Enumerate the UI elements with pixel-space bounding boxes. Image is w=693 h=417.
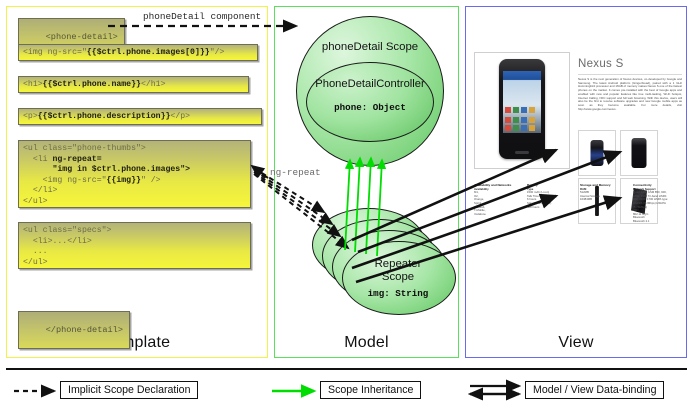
repeater-label-line1: Repeater xyxy=(375,258,422,270)
screen-icon-row-1 xyxy=(505,107,539,113)
code-phone-detail-close: </phone-detail> xyxy=(18,311,130,349)
code-text: <ul class="specs"> xyxy=(23,226,111,235)
spec-column: Availability and Networks Availability M… xyxy=(474,184,523,242)
arrow-label-phonedetail-component: phoneDetail component xyxy=(143,11,261,22)
code-h1-name: <h1>{{$ctrl.phone.name}}</h1> xyxy=(18,76,249,93)
spec-column: Storage and Memory RAM 512MBInternal Sto… xyxy=(580,184,629,242)
spec-value: 16384MB xyxy=(580,198,629,202)
spec-values: 512MBInternal Storage16384MB xyxy=(580,191,629,202)
code-binding-expr: {{$ctrl.phone.description}} xyxy=(38,112,171,121)
code-text: <h1> xyxy=(23,80,43,89)
code-p-description: <p>{{$ctrl.phone.description}}</p> xyxy=(18,108,262,125)
phone-home-button xyxy=(515,151,529,154)
legend-item-scope-inheritance: Scope Inheritance xyxy=(320,381,421,399)
code-text: <p> xyxy=(23,112,38,121)
phone-detail-scope-label: phoneDetail Scope xyxy=(297,41,443,53)
code-ng-repeat-expr: "img in $ctrl.phone.images"> xyxy=(23,165,190,174)
legend-divider xyxy=(6,368,687,370)
code-ul-specs: <ul class="specs"> <li>...</li> ... </ul… xyxy=(18,222,251,269)
spec-value: Bluetooth 2.1 xyxy=(633,220,682,224)
panel-model-label: Model xyxy=(275,334,458,352)
screen-icon-row-2 xyxy=(505,117,539,123)
view-thumbnail-2[interactable] xyxy=(620,130,658,176)
arrow-label-ng-repeat: ng-repeat xyxy=(270,167,321,178)
code-text: </li> xyxy=(23,186,57,195)
view-thumbnail-1[interactable] xyxy=(578,130,616,176)
spec-values: Quad-band GSM 850, 900,1800, 1900 Tri-ba… xyxy=(633,191,682,223)
code-text: <img ng-src=" xyxy=(23,48,87,57)
controller-property: phone: Object xyxy=(307,102,433,113)
phone-body-graphic xyxy=(499,59,545,159)
spec-column: Connectivity Network Support Quad-band G… xyxy=(633,184,682,242)
phone-hero-image xyxy=(474,52,570,169)
repeater-label-line2: Scope xyxy=(382,271,414,283)
code-ng-repeat-attr: ng-repeat= xyxy=(52,155,101,164)
legend-item-model-view-databinding: Model / View Data-binding xyxy=(525,381,664,399)
legend-item-implicit-scope-declaration: Implicit Scope Declaration xyxy=(60,381,198,399)
thumb-back-icon xyxy=(632,138,647,168)
screen-icon-row-3 xyxy=(505,125,539,131)
code-text: <phone-detail> xyxy=(46,32,118,42)
code-text: " /> xyxy=(141,176,161,185)
code-text: <li xyxy=(23,155,52,164)
code-text: </phone-detail> xyxy=(46,325,123,335)
repeater-scope-property: img: String xyxy=(342,288,454,299)
spec-column: Battery Type 1500 mAh (Li-ion)Talk Time6… xyxy=(527,184,576,242)
code-img-ng-src: <img ng-src="{{$ctrl.phone.images[0]}}"/… xyxy=(18,44,258,61)
code-ul-phone-thumbs: <ul class="phone-thumbs"> <li ng-repeat=… xyxy=(18,140,251,208)
controller-label: PhoneDetailController xyxy=(307,78,433,90)
spec-values: 1500 mAh (Li-ion)Talk Time6 hoursStandby… xyxy=(527,191,576,209)
code-binding-expr: {{img}} xyxy=(107,176,141,185)
view-phone-description: Nexus S is the next generation of Nexus … xyxy=(578,78,682,111)
thumb-front-icon xyxy=(591,140,604,166)
spec-value: Vodafone xyxy=(474,213,523,217)
view-phone-title: Nexus S xyxy=(578,58,624,70)
code-binding-expr: {{$ctrl.phone.images[0]}} xyxy=(87,48,210,57)
code-text: ... xyxy=(23,247,48,256)
code-text: </ul> xyxy=(23,197,48,206)
code-text: "/> xyxy=(210,48,225,57)
diagram-canvas: Template <phone-detail> <img ng-src="{{$… xyxy=(0,0,693,417)
phone-screen-graphic xyxy=(503,71,541,133)
repeater-scope-label: RepeaterScope xyxy=(342,258,454,284)
code-text: </p> xyxy=(170,112,190,121)
code-text: </h1> xyxy=(141,80,166,89)
code-text: <li>...</li> xyxy=(23,237,92,246)
code-text: </ul> xyxy=(23,258,48,267)
code-text: <img ng-src=" xyxy=(23,176,107,185)
code-binding-expr: {{$ctrl.phone.name}} xyxy=(43,80,141,89)
view-specs-table: Availability and Networks Availability M… xyxy=(474,184,682,242)
panel-view-label: View xyxy=(466,334,686,352)
title-divider xyxy=(578,74,682,75)
phone-detail-controller-ellipse: PhoneDetailController phone: Object xyxy=(306,62,434,142)
code-text: <ul class="phone-thumbs"> xyxy=(23,144,146,153)
spec-values: M1,O2,Orange,Sprint,StarHub,T-Mobile,Vod… xyxy=(474,191,523,216)
spec-value: 428 hours xyxy=(527,206,576,210)
